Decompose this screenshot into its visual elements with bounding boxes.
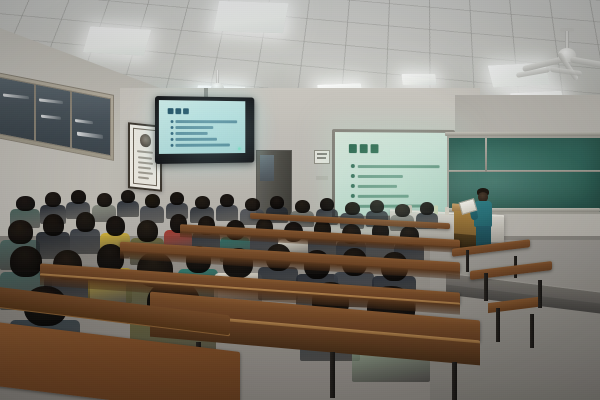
student-head — [137, 220, 158, 242]
desk-leg — [538, 280, 542, 308]
student-head — [10, 246, 42, 277]
student-head — [195, 196, 210, 209]
student-head — [106, 216, 125, 236]
desk-leg — [452, 362, 457, 400]
student-head — [97, 193, 112, 207]
student-head — [220, 194, 234, 207]
classroom-photo — [0, 0, 600, 400]
chair-leg — [496, 308, 500, 342]
student — [140, 194, 164, 222]
student-head — [345, 202, 360, 215]
student — [117, 190, 139, 216]
student-head — [320, 198, 334, 211]
student-head — [170, 192, 184, 205]
student-head — [121, 190, 135, 203]
student-head — [45, 192, 61, 207]
desk-leg — [484, 273, 488, 301]
student-head — [71, 190, 86, 204]
student-head — [370, 200, 384, 213]
desk-leg — [466, 250, 469, 272]
student-head — [145, 194, 160, 208]
student-head — [270, 196, 284, 209]
student-head — [43, 214, 64, 236]
student-head — [395, 204, 410, 217]
desk-leg — [330, 352, 335, 398]
chair-leg — [530, 314, 534, 348]
student-head — [245, 198, 260, 211]
student-head — [295, 200, 310, 213]
student-head — [16, 196, 35, 211]
student-head — [76, 212, 95, 232]
student-head — [8, 220, 33, 244]
student-torso — [117, 201, 139, 217]
student-head — [420, 202, 434, 215]
